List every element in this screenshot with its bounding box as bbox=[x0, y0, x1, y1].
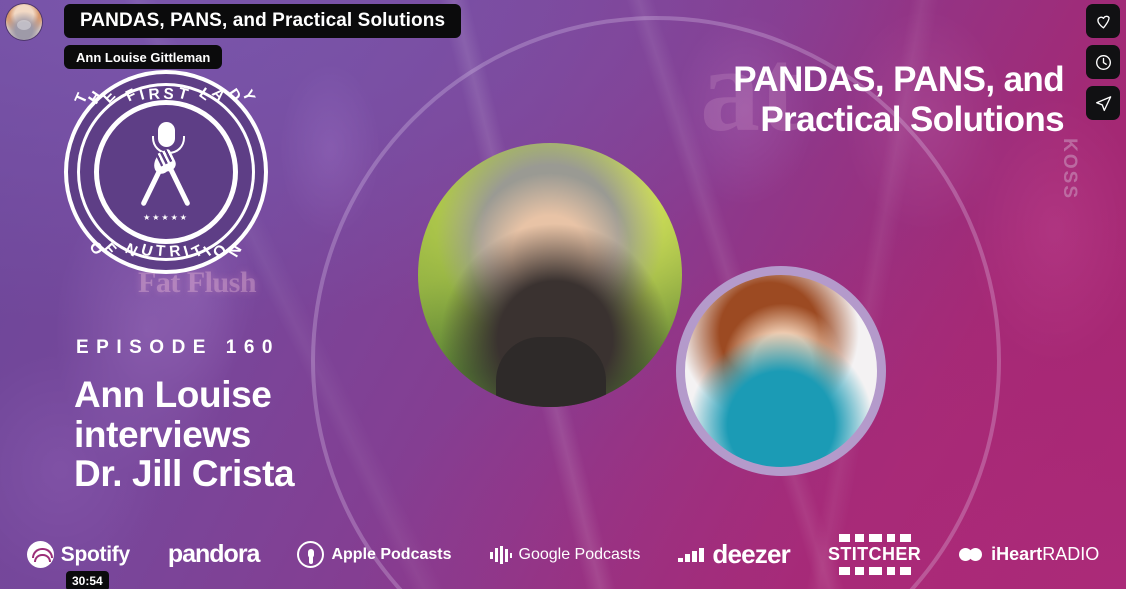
share-button[interactable] bbox=[1086, 86, 1120, 120]
platform-label: STITCHER bbox=[828, 544, 921, 565]
deezer-icon bbox=[678, 548, 705, 562]
platform-label: Spotify bbox=[61, 543, 130, 567]
platform-label: deezer bbox=[712, 539, 790, 570]
host-portrait bbox=[676, 266, 886, 476]
iheart-label-bold: iHeart bbox=[991, 544, 1042, 564]
clock-icon bbox=[1094, 53, 1113, 72]
background-koss-text: KOSS bbox=[1058, 138, 1080, 200]
podcast-logo-badge: THE FIRST LADY ★★★★★ OF NUTRITION bbox=[64, 70, 268, 274]
platform-apple-podcasts[interactable]: Apple Podcasts bbox=[297, 541, 451, 568]
google-podcasts-icon bbox=[490, 546, 512, 564]
send-icon bbox=[1094, 94, 1113, 113]
duration-badge: 30:54 bbox=[66, 571, 109, 589]
badge-arc-bottom-text: OF NUTRITION bbox=[68, 239, 264, 257]
apple-podcasts-icon bbox=[297, 541, 324, 568]
episode-title: PANDAS, PANS, and Practical Solutions bbox=[644, 60, 1064, 140]
platform-label: Apple Podcasts bbox=[331, 546, 451, 564]
heart-icon bbox=[1094, 12, 1113, 31]
episode-headline: Ann Louise interviews Dr. Jill Crista bbox=[74, 375, 294, 494]
platform-deezer[interactable]: deezer bbox=[678, 539, 790, 570]
badge-arc-top-text: THE FIRST LADY bbox=[68, 90, 264, 108]
iheart-label-light: RADIO bbox=[1042, 544, 1099, 564]
platform-label: Google Podcasts bbox=[519, 546, 641, 564]
iheart-icon bbox=[959, 544, 984, 566]
microphone-icon bbox=[158, 122, 175, 147]
episode-number-label: EPISODE 160 bbox=[76, 337, 280, 359]
user-avatar[interactable] bbox=[6, 4, 42, 40]
like-button[interactable] bbox=[1086, 4, 1120, 38]
fork-icon bbox=[164, 159, 190, 206]
video-title[interactable]: PANDAS, PANS, and Practical Solutions bbox=[64, 4, 461, 38]
badge-emblem: ★★★★★ bbox=[112, 118, 220, 226]
guest-portrait bbox=[418, 143, 682, 407]
utensils-icon bbox=[123, 156, 209, 210]
platform-label: iHeartRADIO bbox=[991, 544, 1099, 565]
platform-google-podcasts[interactable]: Google Podcasts bbox=[490, 546, 641, 564]
stitcher-icon bbox=[839, 534, 911, 542]
action-rail bbox=[1086, 4, 1120, 120]
pandora-wordmark: pandora bbox=[168, 540, 260, 569]
channel-name[interactable]: Ann Louise Gittleman bbox=[64, 45, 222, 69]
platform-spotify[interactable]: Spotify bbox=[27, 541, 130, 568]
stitcher-icon-bottom bbox=[839, 567, 911, 575]
platform-pandora[interactable]: pandora bbox=[168, 540, 260, 569]
platform-logo-strip: Spotify pandora Apple Podcasts Google Po… bbox=[0, 534, 1126, 575]
platform-iheartradio[interactable]: iHeartRADIO bbox=[959, 544, 1099, 566]
watch-later-button[interactable] bbox=[1086, 45, 1120, 79]
video-player-frame: at Fat Flush KOSS THE FIRST LADY ★★★★★ O… bbox=[0, 0, 1126, 589]
platform-stitcher[interactable]: STITCHER bbox=[828, 534, 921, 575]
spotify-icon bbox=[27, 541, 54, 568]
badge-stars: ★★★★★ bbox=[143, 213, 189, 222]
